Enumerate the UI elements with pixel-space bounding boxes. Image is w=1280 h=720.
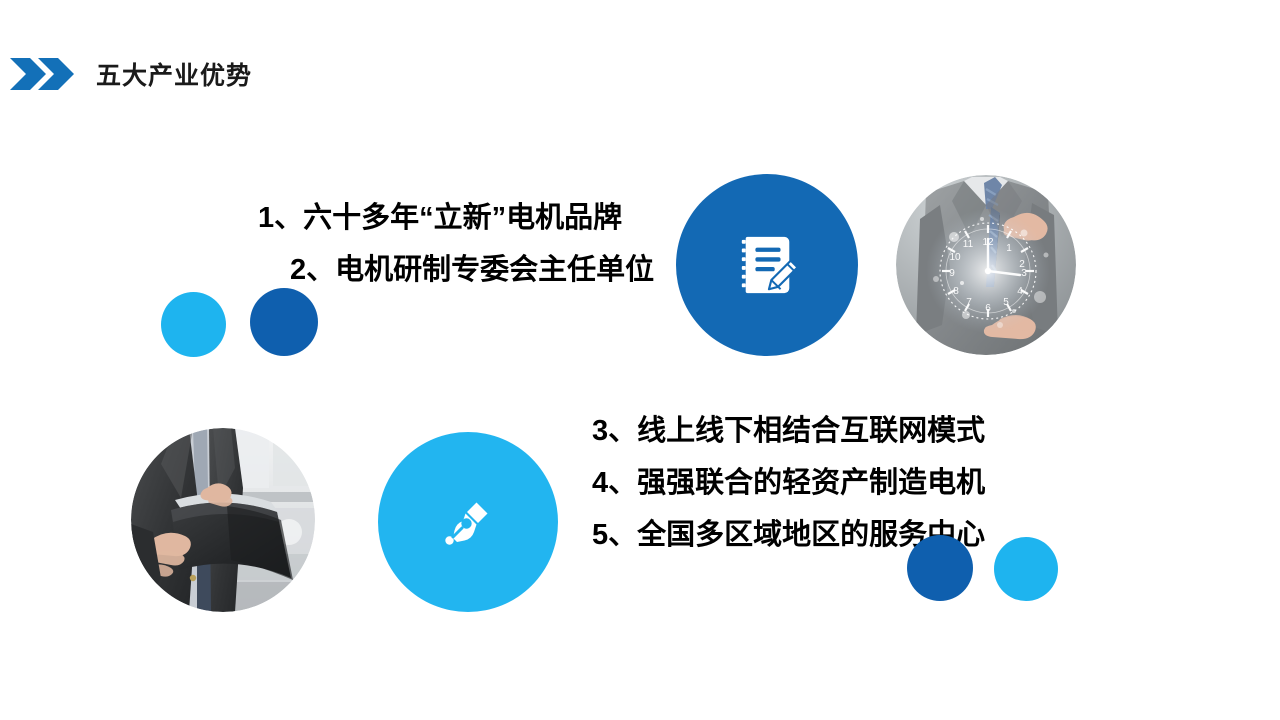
- svg-text:3: 3: [1021, 268, 1027, 279]
- icon-circle-pen: [378, 432, 558, 612]
- svg-text:5: 5: [1003, 297, 1009, 308]
- advantages-top-text: 1、六十多年“立新”电机品牌 2、电机研制专委会主任单位: [258, 192, 654, 296]
- double-chevron-right-icon: [8, 56, 74, 92]
- svg-text:1: 1: [1006, 243, 1012, 254]
- svg-text:7: 7: [966, 297, 972, 308]
- slide-canvas: 五大产业优势 1、六十多年“立新”电机品牌 2、电机研制专委会主任单位 3、线上…: [0, 0, 1280, 720]
- pen-nib-icon: [436, 490, 500, 554]
- icon-circle-notepad: [676, 174, 858, 356]
- svg-text:10: 10: [949, 252, 961, 263]
- page-title: 五大产业优势: [96, 56, 252, 92]
- svg-text:6: 6: [985, 303, 991, 314]
- notepad-pencil-icon: [736, 234, 798, 296]
- slide-header: 五大产业优势: [0, 48, 252, 100]
- businessman-reading-folder-photo: [131, 428, 315, 612]
- decor-dot-cyan-upper: [161, 292, 226, 357]
- svg-text:4: 4: [1017, 286, 1023, 297]
- decor-dot-cyan-lower: [994, 537, 1058, 601]
- businessman-holding-clock-photo: 12 1 2 3 4 5 6 7 8 9 10 11: [896, 175, 1076, 355]
- decor-dot-blue-lower: [907, 535, 973, 601]
- advantage-item-4: 4、强强联合的轻资产制造电机: [592, 457, 985, 509]
- advantage-item-1: 1、六十多年“立新”电机品牌: [258, 192, 654, 244]
- advantage-item-2: 2、电机研制专委会主任单位: [258, 244, 654, 296]
- svg-text:8: 8: [953, 286, 959, 297]
- svg-text:11: 11: [963, 239, 974, 250]
- decor-dot-blue-upper: [250, 288, 318, 356]
- advantage-item-3: 3、线上线下相结合互联网模式: [592, 405, 985, 457]
- svg-text:9: 9: [949, 268, 955, 279]
